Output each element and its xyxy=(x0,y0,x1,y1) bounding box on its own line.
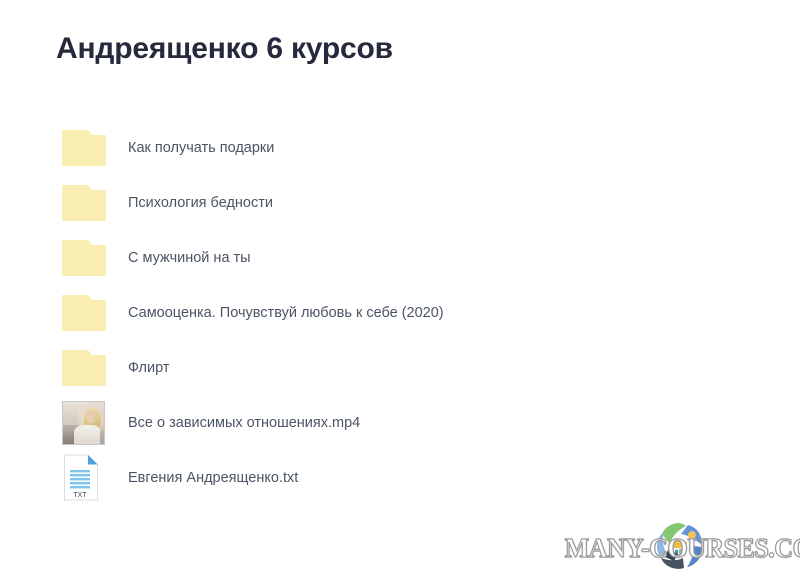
list-item[interactable]: Флирт xyxy=(0,340,800,395)
file-list: Как получать подарки Психология бедности xyxy=(0,120,800,505)
list-item-label: Самооценка. Почувствуй любовь к себе (20… xyxy=(128,304,444,322)
list-item[interactable]: Все о зависимых отношениях.mp4 xyxy=(0,395,800,450)
list-item-label: Все о зависимых отношениях.mp4 xyxy=(128,414,360,432)
folder-icon xyxy=(62,234,128,282)
list-item[interactable]: Самооценка. Почувствуй любовь к себе (20… xyxy=(0,285,800,340)
list-item[interactable]: TXT Евгения Андреященко.txt xyxy=(0,450,800,505)
list-item-label: Евгения Андреященко.txt xyxy=(128,469,298,487)
list-item[interactable]: С мужчиной на ты xyxy=(0,230,800,285)
folder-icon xyxy=(62,289,128,337)
watermark-text: MANY-COURSES.COM xyxy=(565,533,795,563)
list-item-label: С мужчиной на ты xyxy=(128,249,251,267)
list-item-label: Флирт xyxy=(128,359,170,377)
video-thumbnail-icon xyxy=(62,399,128,447)
txt-file-icon: TXT xyxy=(62,454,128,502)
list-item[interactable]: Как получать подарки xyxy=(0,120,800,175)
page-title: Андреященко 6 курсов xyxy=(56,30,393,68)
folder-icon xyxy=(62,179,128,227)
txt-icon-label: TXT xyxy=(73,492,87,499)
folder-icon xyxy=(62,124,128,172)
file-listing-page: Андреященко 6 курсов Как получать подарк… xyxy=(0,0,800,585)
list-item[interactable]: Психология бедности xyxy=(0,175,800,230)
watermark: MANY-COURSES.COM xyxy=(560,512,800,582)
list-item-label: Как получать подарки xyxy=(128,139,274,157)
folder-icon xyxy=(62,344,128,392)
list-item-label: Психология бедности xyxy=(128,194,273,212)
